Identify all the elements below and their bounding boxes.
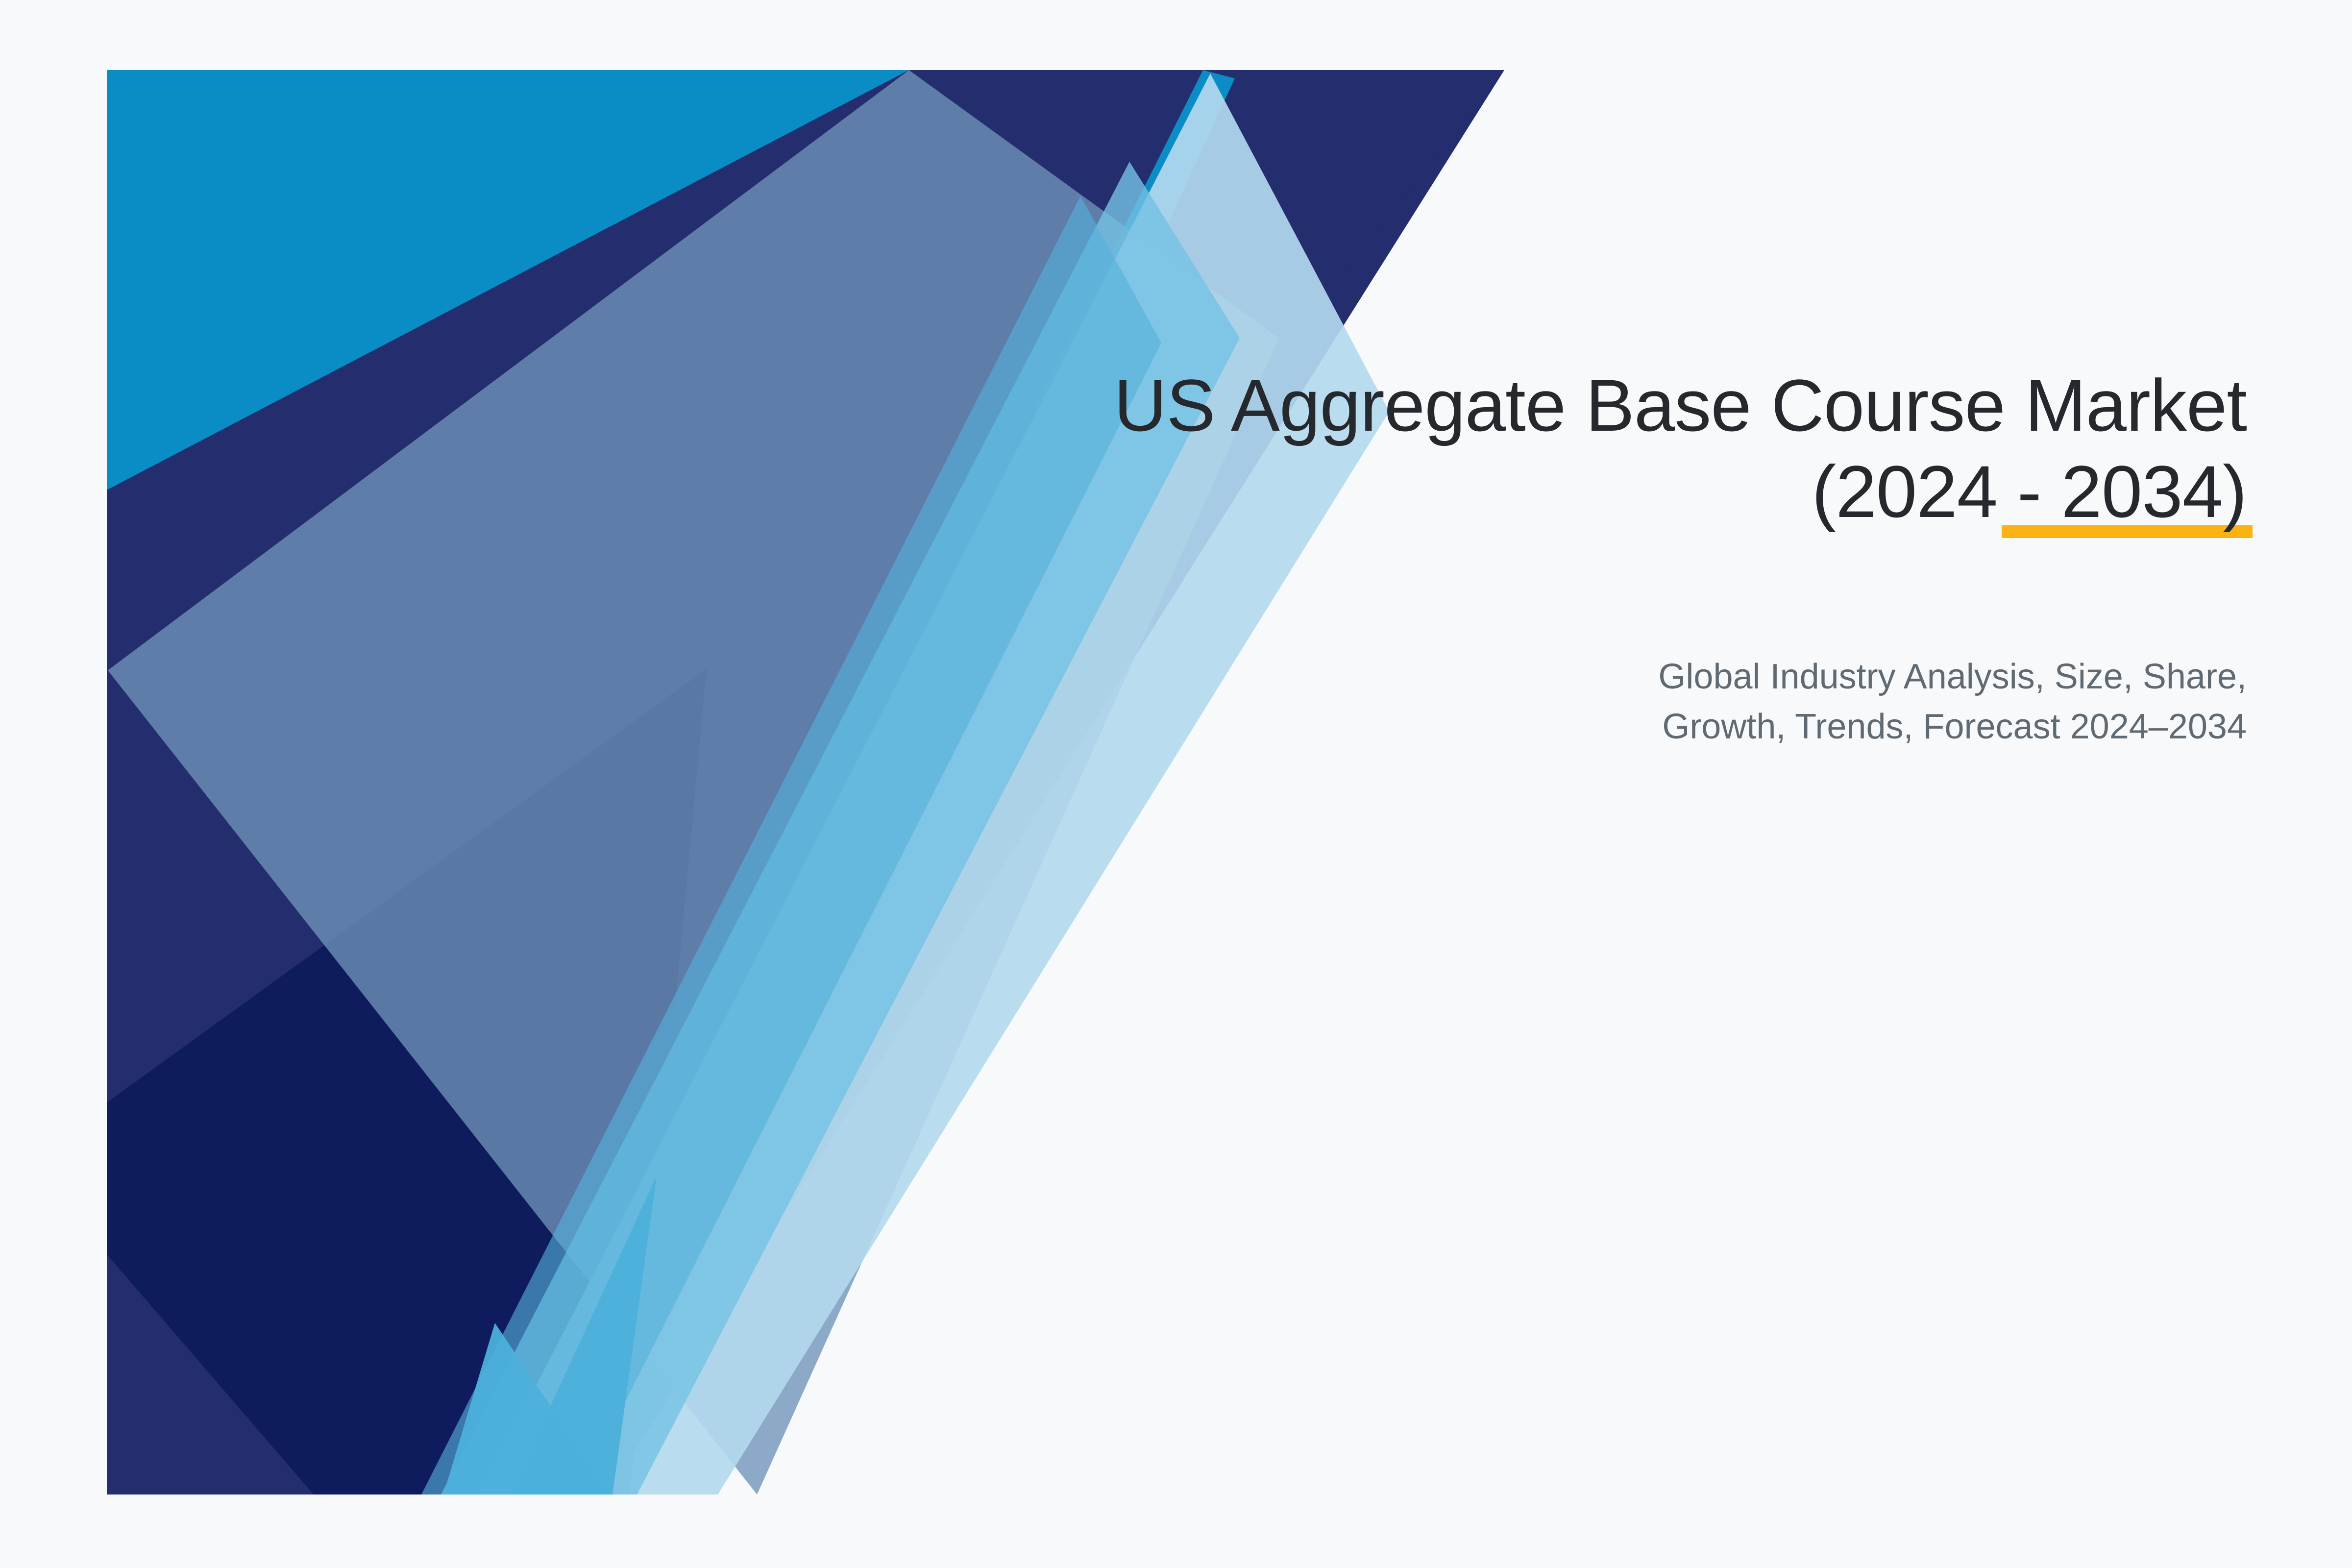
title-line-1: US Aggregate Base Course Market <box>906 363 2247 449</box>
cover-text-block: US Aggregate Base Course Market (2024 - … <box>906 363 2247 535</box>
page-title: US Aggregate Base Course Market (2024 - … <box>906 363 2247 535</box>
cover-page: US Aggregate Base Course Market (2024 - … <box>0 0 2352 1568</box>
title-line-2: (2024 - 2034) <box>906 449 2247 535</box>
page-subtitle: Global Industry Analysis, Size, Share, G… <box>1267 652 2247 752</box>
subtitle-line-2: Growth, Trends, Forecast 2024–2034 <box>1267 702 2247 752</box>
abstract-geometric-artwork <box>0 0 2352 1568</box>
subtitle-line-1: Global Industry Analysis, Size, Share, <box>1267 652 2247 702</box>
